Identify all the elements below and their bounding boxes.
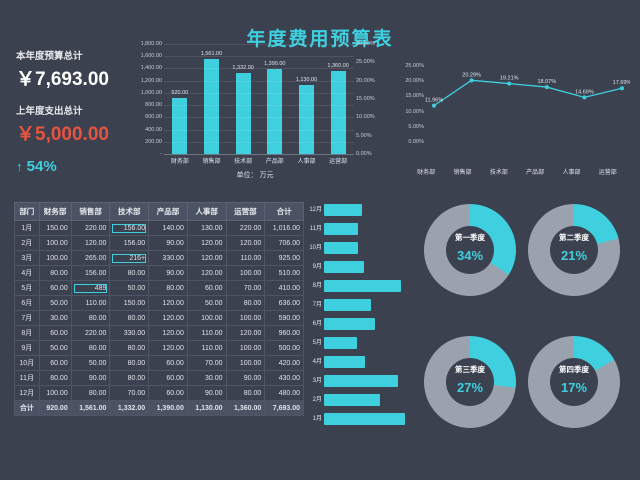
donut-title: 第一季度 [424, 232, 516, 243]
line-chart-svg: 11.96%20.29%19.21%18.07%14.69%17.69% [400, 66, 630, 146]
gridline [164, 56, 354, 57]
table-cell[interactable]: 80.00 [71, 386, 110, 401]
table-cell[interactable]: 110.00 [187, 341, 226, 356]
hbar-label: 1月 [306, 413, 322, 422]
table-total-cell: 1,390.00 [149, 401, 188, 416]
table-cell[interactable]: 80.00 [110, 266, 149, 281]
table-cell[interactable]: 80.00 [110, 311, 149, 326]
line-x-tick: 财务部 [408, 167, 444, 176]
gridline [164, 68, 354, 69]
x-tick-label: 销售部 [196, 156, 226, 165]
table-cell[interactable]: 90.00 [71, 371, 110, 386]
gridline [164, 93, 354, 94]
table-cell[interactable]: 100.00 [226, 341, 265, 356]
y2-tick-label: 25.00% [356, 59, 375, 65]
hbar-label: 12月 [306, 204, 322, 213]
hbar [324, 242, 358, 254]
table-total-cell: 1,561.00 [71, 401, 110, 416]
table-row[interactable]: 11月80.0090.0080.0060.0030.0090.00430.00 [15, 371, 304, 386]
hbar [324, 318, 375, 330]
hbar-label: 3月 [306, 375, 322, 384]
table-cell[interactable]: 4月 [15, 266, 40, 281]
table-total-cell: 1,360.00 [226, 401, 265, 416]
hbar [324, 413, 405, 425]
table-cell[interactable]: 120.00 [187, 266, 226, 281]
gridline [164, 142, 354, 143]
table-cell[interactable]: 120.00 [187, 236, 226, 251]
table-header-cell: 人事部 [187, 203, 226, 221]
y-tick-label: 600.00 [145, 114, 162, 120]
table-cell[interactable]: 410.00 [265, 281, 304, 296]
table-total-row: 合计920.001,561.001,332.001,390.001,130.00… [15, 401, 304, 416]
table-cell[interactable]: 80.00 [39, 266, 71, 281]
table-cell[interactable]: 90.00 [149, 236, 188, 251]
table-row[interactable]: 1月150.00220.00156.00140.00130.00220.001,… [15, 221, 304, 236]
y-tick-label: 1,600.00 [141, 53, 162, 59]
table-cell[interactable]: 60.00 [39, 326, 71, 341]
gridline [164, 105, 354, 106]
table-cell[interactable]: 220.00 [226, 221, 265, 236]
table-row[interactable]: 4月80.00156.0080.0090.00120.00100.00510.0… [15, 266, 304, 281]
table-header-cell: 技术部 [110, 203, 149, 221]
hbar-label: 4月 [306, 356, 322, 365]
svg-text:19.21%: 19.21% [500, 76, 519, 82]
table-header-cell: 合计 [265, 203, 304, 221]
table-header-cell: 部门 [15, 203, 40, 221]
table-total-cell: 1,332.00 [110, 401, 149, 416]
donut-chart-q2: 第二季度21% [528, 204, 620, 296]
line-x-tick: 产品部 [517, 167, 553, 176]
table-cell[interactable]: 330.00 [110, 326, 149, 341]
donut-value: 34% [424, 248, 516, 263]
x-tick-label: 财务部 [165, 156, 195, 165]
table-cell[interactable]: 500.00 [265, 341, 304, 356]
table-cell[interactable]: 6月 [15, 296, 40, 311]
table-cell[interactable]: 430.00 [265, 371, 304, 386]
table-row[interactable]: 7月30.0080.0080.00120.00100.00100.00590.0… [15, 311, 304, 326]
table-cell[interactable]: 10月 [15, 356, 40, 371]
table-header-cell: 销售部 [71, 203, 110, 221]
table-row[interactable]: 2月100.00120.00156.0090.00120.00120.00706… [15, 236, 304, 251]
growth-percent: 54% [27, 158, 57, 175]
x-tick-label: 产品部 [260, 156, 290, 165]
column-chart-x-axis: 财务部销售部技术部产品部人事部运营部 [164, 156, 354, 165]
table-cell[interactable]: 120.00 [187, 251, 226, 266]
highlighted-cell-value: 156.00 [113, 225, 145, 232]
table-cell[interactable]: 120.00 [226, 236, 265, 251]
table-cell[interactable]: 1月 [15, 221, 40, 236]
department-ratio-line-chart: 25.00%20.00%15.00%10.00%5.00%0.00% 11.96… [400, 66, 630, 176]
table-cell[interactable]: 80.00 [149, 281, 188, 296]
table-row[interactable]: 12月100.0080.0070.0060.0090.0080.00480.00 [15, 386, 304, 401]
table-header-cell: 财务部 [39, 203, 71, 221]
table-cell[interactable]: 50.00 [187, 296, 226, 311]
gridline [164, 81, 354, 82]
table-row[interactable]: 8月60.00220.00330.00120.00110.00120.00960… [15, 326, 304, 341]
table-cell[interactable]: 100.00 [39, 386, 71, 401]
y-tick-label: - [160, 151, 162, 157]
table-cell[interactable]: 120.00 [71, 236, 110, 251]
donut-chart-q3: 第三季度27% [424, 336, 516, 428]
column-chart-secondary-y-axis: 30.00%25.00%20.00%15.00%10.00%5.00%0.00% [354, 44, 380, 154]
table-cell[interactable]: 60.00 [149, 386, 188, 401]
bar-column: 1,130.00 [295, 44, 317, 154]
hbar-label: 5月 [306, 337, 322, 346]
table-cell[interactable]: 120.00 [149, 296, 188, 311]
gridline [164, 117, 354, 118]
x-tick-label: 人事部 [291, 156, 321, 165]
table-cell[interactable]: 120.00 [149, 311, 188, 326]
table-cell[interactable]: 2月 [15, 236, 40, 251]
table-cell[interactable]: 80.00 [226, 386, 265, 401]
column-chart-plot: 920.001,561.001,332.001,390.001,130.001,… [164, 44, 354, 155]
donut-value: 27% [424, 380, 516, 395]
table-cell[interactable]: 925.00 [265, 251, 304, 266]
y-tick-label: 800.00 [145, 102, 162, 108]
hbar-label: 10月 [306, 242, 322, 251]
table-row[interactable]: 5月60.0048950.0080.0060.0070.00410.00 [15, 281, 304, 296]
table-cell[interactable]: 8月 [15, 326, 40, 341]
donut-chart-q4: 第四季度17% [528, 336, 620, 428]
y2-tick-label: 15.00% [356, 96, 375, 102]
bar-value-label: 1,390.00 [264, 61, 285, 67]
column-chart-unit-label: 单位： 万元 [130, 170, 380, 180]
table-cell[interactable]: 12月 [15, 386, 40, 401]
bar [172, 98, 187, 154]
hbar [324, 280, 401, 292]
hbar [324, 375, 398, 387]
table-cell[interactable]: 3月 [15, 251, 40, 266]
table-cell[interactable]: 960.00 [265, 326, 304, 341]
table-cell[interactable]: 150.00 [39, 221, 71, 236]
column-chart-y-axis: 1,800.001,600.001,400.001,200.001,000.00… [130, 44, 164, 154]
table-row[interactable]: 10月60.0050.0080.0060.0070.00100.00420.00 [15, 356, 304, 371]
bar-column: 1,390.00 [264, 44, 286, 154]
y2-tick-label: 20.00% [356, 78, 375, 84]
svg-text:18.07%: 18.07% [537, 79, 556, 85]
table-cell[interactable]: 330.00 [149, 251, 188, 266]
table-cell[interactable]: 220.00 [71, 326, 110, 341]
table-cell[interactable]: 1,016.00 [265, 221, 304, 236]
y-tick-label: 1,800.00 [141, 41, 162, 47]
hbar-label: 8月 [306, 280, 322, 289]
table-cell[interactable]: 706.00 [265, 236, 304, 251]
gridline [164, 44, 354, 45]
table-total-cell: 7,693.00 [265, 401, 304, 416]
table-cell[interactable]: 590.00 [265, 311, 304, 326]
table-cell[interactable]: 489 [71, 281, 110, 296]
table-cell[interactable]: 100.00 [226, 266, 265, 281]
table-cell[interactable]: 100.00 [226, 356, 265, 371]
table-cell[interactable]: 70.00 [226, 281, 265, 296]
table-cell[interactable]: 50.00 [110, 281, 149, 296]
y2-tick-label: 30.00% [356, 41, 375, 47]
y2-tick-label: 10.00% [356, 114, 375, 120]
table-cell[interactable]: 80.00 [39, 371, 71, 386]
table-cell[interactable]: 60.00 [149, 371, 188, 386]
table-cell[interactable]: 156.00 [71, 266, 110, 281]
y2-tick-label: 0.00% [356, 151, 372, 157]
table-total-cell: 合计 [15, 401, 40, 416]
table-row[interactable]: 9月50.0080.0080.00120.00110.00100.00500.0… [15, 341, 304, 356]
y-tick-label: 1,200.00 [141, 78, 162, 84]
donut-title: 第二季度 [528, 232, 620, 243]
table-cell[interactable]: 510.00 [265, 266, 304, 281]
table-cell[interactable]: 120.00 [149, 341, 188, 356]
svg-text:14.69%: 14.69% [575, 89, 594, 95]
hbar-label: 7月 [306, 299, 322, 308]
table-cell[interactable]: 50.00 [39, 341, 71, 356]
table-cell[interactable]: 265.00 [71, 251, 110, 266]
table-cell[interactable]: 480.00 [265, 386, 304, 401]
table-cell[interactable]: 636.00 [265, 296, 304, 311]
table-cell[interactable]: 100.00 [226, 311, 265, 326]
table-cell[interactable]: 60.00 [39, 281, 71, 296]
table-cell[interactable]: 100.00 [187, 311, 226, 326]
bar-column: 1,360.00 [327, 44, 349, 154]
gridline [164, 130, 354, 131]
table-cell[interactable]: 80.00 [110, 341, 149, 356]
y-tick-label: 400.00 [145, 127, 162, 133]
table-cell[interactable]: 130.00 [187, 221, 226, 236]
table-cell[interactable]: 80.00 [71, 341, 110, 356]
line-x-tick: 运营部 [590, 167, 626, 176]
table-cell[interactable]: 90.00 [187, 386, 226, 401]
svg-text:17.69%: 17.69% [613, 80, 630, 86]
table-cell[interactable]: 110.00 [187, 326, 226, 341]
line-chart-x-axis: 财务部销售部技术部产品部人事部运营部 [408, 167, 626, 176]
table-cell[interactable]: 70.00 [110, 386, 149, 401]
dashboard-page: 年度费用预算表 本年度预算总计 ￥7,693.00 上年度支出总计 ￥5,000… [0, 0, 640, 480]
bar [299, 85, 314, 154]
table-cell[interactable]: 60.00 [187, 281, 226, 296]
table-cell[interactable]: 100.00 [39, 236, 71, 251]
table-cell[interactable]: 156.00 [110, 236, 149, 251]
x-tick-label: 运营部 [323, 156, 353, 165]
table-header-cell: 产品部 [149, 203, 188, 221]
table-cell[interactable]: 120.00 [226, 326, 265, 341]
monthly-total-bar-chart: 1月2月3月4月5月6月7月8月9月10月11月12月 [306, 200, 416, 438]
hbar [324, 299, 371, 311]
table-cell[interactable]: 140.00 [149, 221, 188, 236]
hbar [324, 394, 380, 406]
y-tick-label: 1,400.00 [141, 65, 162, 71]
bar-column: 1,332.00 [232, 44, 254, 154]
table-header-cell: 运营部 [226, 203, 265, 221]
table-cell[interactable]: 216+ [110, 251, 149, 266]
table-cell[interactable]: 50.00 [71, 356, 110, 371]
donut-title: 第四季度 [528, 364, 620, 375]
table-cell[interactable]: 60.00 [149, 356, 188, 371]
table-cell[interactable]: 11月 [15, 371, 40, 386]
table-cell[interactable]: 30.00 [39, 311, 71, 326]
line-x-tick: 销售部 [444, 167, 480, 176]
bar [204, 59, 219, 154]
table-cell[interactable]: 30.00 [187, 371, 226, 386]
hbar-label: 6月 [306, 318, 322, 327]
table-row[interactable]: 3月100.00265.00216+330.00120.00110.00925.… [15, 251, 304, 266]
bar-column: 920.00 [169, 44, 191, 154]
table-cell[interactable]: 7月 [15, 311, 40, 326]
table-cell[interactable]: 100.00 [39, 251, 71, 266]
y-tick-label: 1,000.00 [141, 90, 162, 96]
table-cell[interactable]: 120.00 [149, 326, 188, 341]
table-cell[interactable]: 80.00 [110, 356, 149, 371]
y-tick-label: 200.00 [145, 139, 162, 145]
bar-column: 1,561.00 [200, 44, 222, 154]
hbar [324, 204, 362, 216]
table-cell[interactable]: 9月 [15, 341, 40, 356]
hbar [324, 223, 358, 235]
highlighted-cell-value: 489 [75, 285, 107, 292]
hbar-label: 9月 [306, 261, 322, 270]
table-cell[interactable]: 156.00 [110, 221, 149, 236]
donut-value: 17% [528, 380, 620, 395]
donut-chart-q1: 第一季度34% [424, 204, 516, 296]
table-cell[interactable]: 90.00 [149, 266, 188, 281]
hbar-label: 11月 [306, 223, 322, 232]
table-total-cell: 920.00 [39, 401, 71, 416]
table-cell[interactable]: 60.00 [39, 356, 71, 371]
donut-value: 21% [528, 248, 620, 263]
hbar-label: 2月 [306, 394, 322, 403]
table-cell[interactable]: 110.00 [71, 296, 110, 311]
table-cell[interactable]: 90.00 [226, 371, 265, 386]
table-total-cell: 1,130.00 [187, 401, 226, 416]
svg-text:20.29%: 20.29% [462, 72, 481, 78]
donut-title: 第三季度 [424, 364, 516, 375]
table-cell[interactable]: 80.00 [226, 296, 265, 311]
y2-tick-label: 5.00% [356, 133, 372, 139]
table-cell[interactable]: 110.00 [226, 251, 265, 266]
hbar [324, 356, 365, 368]
table-cell[interactable]: 150.00 [110, 296, 149, 311]
table-cell[interactable]: 80.00 [110, 371, 149, 386]
table-cell[interactable]: 220.00 [71, 221, 110, 236]
hbar [324, 261, 364, 273]
table-cell[interactable]: 80.00 [71, 311, 110, 326]
svg-text:11.96%: 11.96% [425, 98, 443, 104]
department-budget-column-chart: 1,800.001,600.001,400.001,200.001,000.00… [130, 44, 380, 184]
table-cell[interactable]: 50.00 [39, 296, 71, 311]
line-x-tick: 人事部 [553, 167, 589, 176]
table-header-row: 部门财务部销售部技术部产品部人事部运营部合计 [15, 203, 304, 221]
table-cell[interactable]: 420.00 [265, 356, 304, 371]
hbar [324, 337, 357, 349]
table-cell[interactable]: 70.00 [187, 356, 226, 371]
highlighted-cell-value: 216+ [113, 255, 145, 262]
budget-table: 部门财务部销售部技术部产品部人事部运营部合计 1月150.00220.00156… [14, 202, 304, 416]
table-row[interactable]: 6月50.00110.00150.00120.0050.0080.00636.0… [15, 296, 304, 311]
line-x-tick: 技术部 [481, 167, 517, 176]
table-cell[interactable]: 5月 [15, 281, 40, 296]
up-arrow-icon: ↑ [16, 159, 23, 174]
x-tick-label: 技术部 [228, 156, 258, 165]
